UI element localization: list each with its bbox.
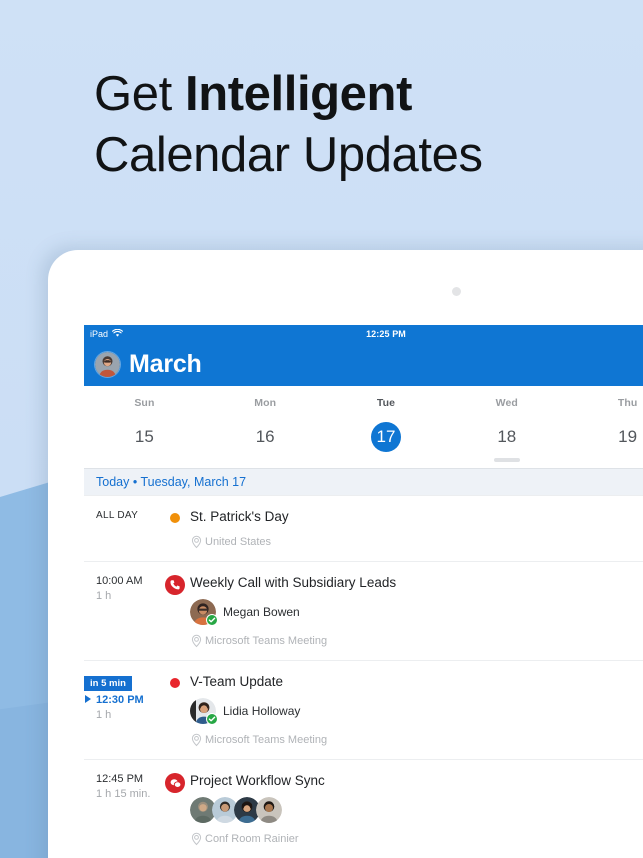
event-time-column: 12:45 PM 1 h 15 min. xyxy=(84,772,160,846)
week-day-wed[interactable]: Wed 18 xyxy=(446,397,567,457)
week-day-row: Sun 15 Mon 16 Tue 17 Wed 18 Thu 19 xyxy=(84,397,643,457)
attendee-name: Lidia Holloway xyxy=(223,704,300,718)
event-title: Project Workflow Sync xyxy=(190,772,643,790)
accepted-badge-icon xyxy=(206,614,218,626)
headline-line-1: Get Intelligent xyxy=(94,64,614,125)
agenda-event-v-team-update[interactable]: in 5 min 12:30 PM 1 h V-Team Update xyxy=(84,660,643,759)
agenda-event-weekly-call[interactable]: 10:00 AM 1 h Weekly Call with Subsidiary… xyxy=(84,561,643,660)
day-name-label: Sun xyxy=(84,397,205,409)
headline-bold-text: Intelligent xyxy=(185,67,412,121)
event-icon-column xyxy=(160,772,190,846)
headline-line-2: Calendar Updates xyxy=(94,125,614,186)
event-time-label: 10:00 AM xyxy=(96,574,160,589)
agenda-event-project-workflow-sync[interactable]: 12:45 PM 1 h 15 min. Project Workflow Sy… xyxy=(84,759,643,858)
ios-status-bar: iPad 12:25 PM xyxy=(84,325,643,342)
event-icon-column xyxy=(160,673,190,747)
event-body: Project Workflow Sync xyxy=(190,772,643,846)
attendee-chip[interactable]: Megan Bowen xyxy=(190,599,300,625)
day-number-label: 15 xyxy=(129,422,159,452)
event-location: Microsoft Teams Meeting xyxy=(190,733,643,747)
event-attendees: Megan Bowen xyxy=(190,599,643,625)
event-title: St. Patrick's Day xyxy=(190,508,643,526)
event-time-column: 10:00 AM 1 h xyxy=(84,574,160,648)
day-number-label: 18 xyxy=(492,422,522,452)
red-dot-icon xyxy=(170,678,180,688)
teams-chat-icon xyxy=(165,773,185,793)
event-body: St. Patrick's Day United States xyxy=(190,508,643,549)
day-name-label: Wed xyxy=(446,397,567,409)
ipad-device-frame: iPad 12:25 PM March xyxy=(48,250,643,858)
agenda-event-all-day[interactable]: ALL DAY St. Patrick's Day United States xyxy=(84,495,643,561)
week-day-sun[interactable]: Sun 15 xyxy=(84,397,205,457)
headline-regular-text: Get xyxy=(94,67,185,121)
camera-dot-icon xyxy=(452,287,461,296)
event-title: V-Team Update xyxy=(190,673,643,691)
event-icon-column xyxy=(160,574,190,648)
attendee-name: Megan Bowen xyxy=(223,605,300,619)
location-pin-icon xyxy=(190,733,203,747)
agenda-day-header: Today • Tuesday, March 17 xyxy=(84,468,643,495)
attendee-avatar xyxy=(190,698,216,724)
event-body: V-Team Update xyxy=(190,673,643,747)
event-duration-label: 1 h xyxy=(96,589,160,604)
week-strip[interactable]: Sun 15 Mon 16 Tue 17 Wed 18 Thu 19 xyxy=(84,386,643,468)
calendar-title-bar: March xyxy=(84,342,643,386)
drag-handle-icon[interactable] xyxy=(494,458,520,462)
event-location-label: Microsoft Teams Meeting xyxy=(205,734,327,746)
event-time-column: ALL DAY xyxy=(84,508,160,549)
day-name-label: Thu xyxy=(567,397,643,409)
page-title: March xyxy=(129,350,202,379)
accepted-badge-icon xyxy=(206,713,218,725)
agenda-list: Today • Tuesday, March 17 ALL DAY St. Pa… xyxy=(84,468,643,858)
event-time-label: 12:30 PM xyxy=(96,693,160,708)
event-attendees: Lidia Holloway xyxy=(190,698,643,724)
location-pin-icon xyxy=(190,634,203,648)
starting-soon-badge: in 5 min xyxy=(84,676,132,691)
orange-dot-icon xyxy=(170,513,180,523)
week-day-mon[interactable]: Mon 16 xyxy=(205,397,326,457)
event-time-label: ALL DAY xyxy=(96,508,160,523)
event-body: Weekly Call with Subsidiary Leads xyxy=(190,574,643,648)
user-avatar[interactable] xyxy=(95,352,120,377)
current-time-caret-icon xyxy=(85,695,91,703)
day-number-label: 17 xyxy=(371,422,401,452)
attendee-avatar-stack[interactable] xyxy=(190,797,278,823)
event-time-column: in 5 min 12:30 PM 1 h xyxy=(84,673,160,747)
ipad-screen: iPad 12:25 PM March xyxy=(84,325,643,858)
event-location: Conf Room Rainier xyxy=(190,832,643,846)
phone-call-icon xyxy=(165,575,185,595)
event-location: United States xyxy=(190,535,643,549)
attendee-avatar xyxy=(190,599,216,625)
event-icon-column xyxy=(160,508,190,549)
day-number-label: 19 xyxy=(613,422,643,452)
week-day-thu[interactable]: Thu 19 xyxy=(567,397,643,457)
event-duration-label: 1 h 15 min. xyxy=(96,787,160,802)
location-pin-icon xyxy=(190,832,203,846)
event-attendees xyxy=(190,797,643,823)
attendee-avatar xyxy=(256,797,282,823)
event-location-label: Conf Room Rainier xyxy=(205,833,299,845)
event-title: Weekly Call with Subsidiary Leads xyxy=(190,574,643,592)
event-location-label: Microsoft Teams Meeting xyxy=(205,635,327,647)
day-number-label: 16 xyxy=(250,422,280,452)
event-time-label: 12:45 PM xyxy=(96,772,160,787)
week-strip-handle-row xyxy=(84,457,643,462)
attendee-chip[interactable]: Lidia Holloway xyxy=(190,698,300,724)
event-location: Microsoft Teams Meeting xyxy=(190,634,643,648)
event-duration-label: 1 h xyxy=(96,708,160,723)
week-day-tue-selected[interactable]: Tue 17 xyxy=(326,397,447,457)
day-name-label: Tue xyxy=(326,397,447,409)
status-bar-clock: 12:25 PM xyxy=(84,329,643,339)
location-pin-icon xyxy=(190,535,203,549)
promo-headline: Get Intelligent Calendar Updates xyxy=(94,64,614,186)
day-name-label: Mon xyxy=(205,397,326,409)
event-location-label: United States xyxy=(205,536,271,548)
